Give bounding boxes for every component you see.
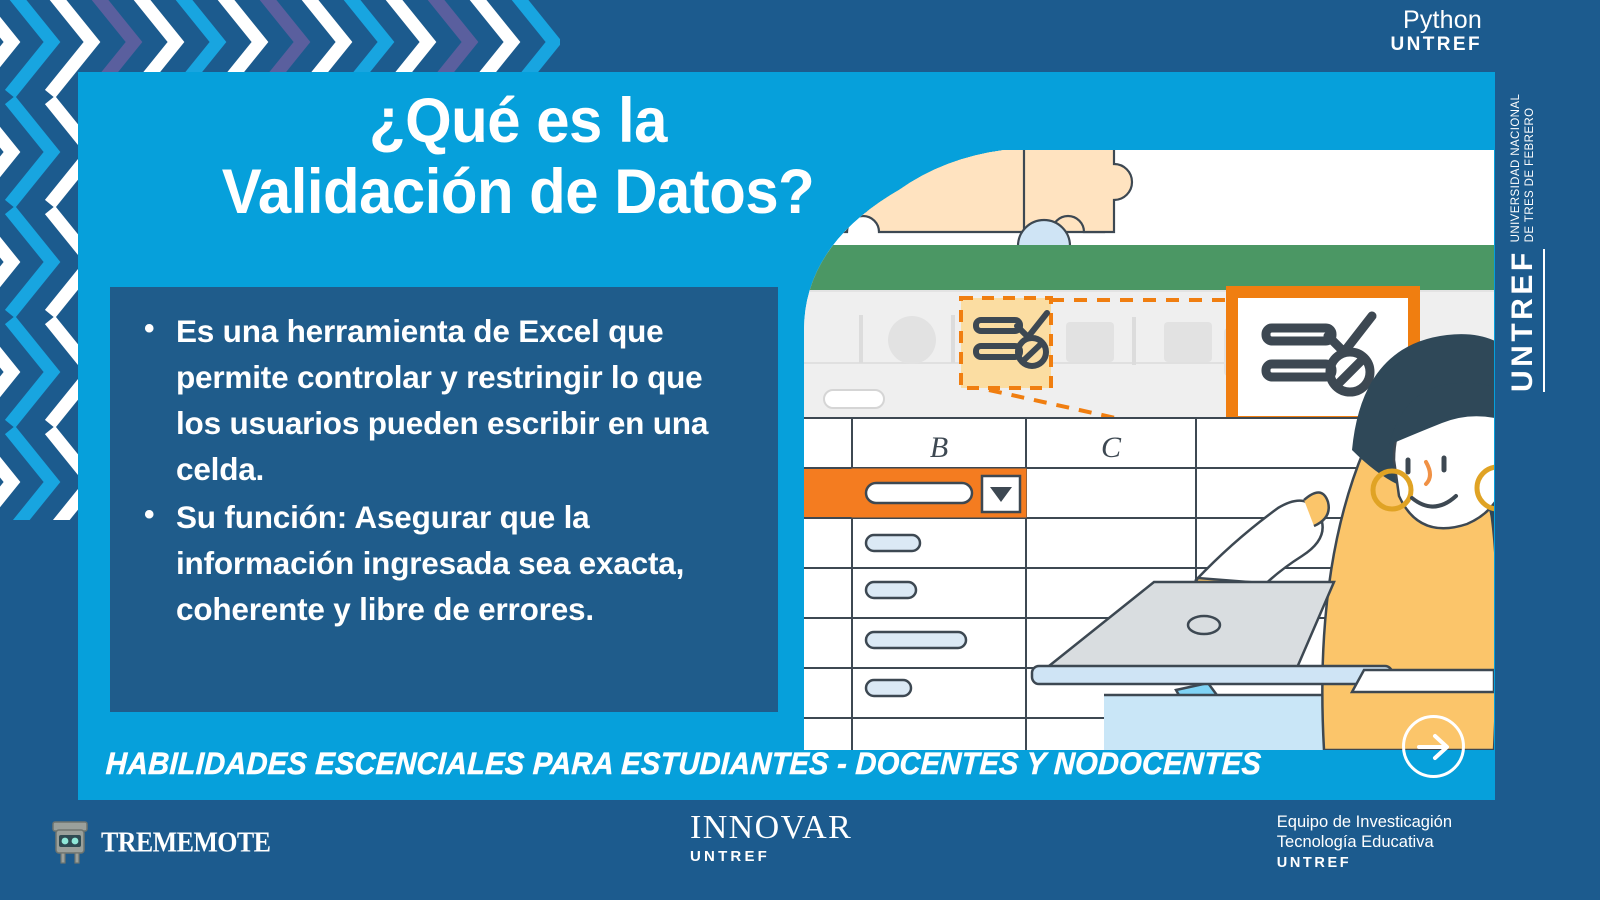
illus-green-band <box>804 245 1494 290</box>
innovar-logo: INNOVAR UNTREF <box>690 810 852 864</box>
toolbar-divider <box>1132 317 1136 365</box>
robot-icon <box>48 818 92 868</box>
toolbar-button <box>1066 322 1114 362</box>
illustration-spreadsheet-validation: B C <box>804 150 1494 750</box>
untref-fullname-line1: UNIVERSIDAD NACIONAL <box>1510 94 1522 243</box>
untref-vertical-logo: UNTREF UNIVERSIDAD NACIONAL DE TRES DE F… <box>1508 392 1594 722</box>
equipo-line2: Tecnología Educativa <box>1277 832 1452 852</box>
bullet-panel: Es una herramienta de Excel que permite … <box>110 287 778 712</box>
untref-fullname: UNIVERSIDAD NACIONAL DE TRES DE FEBRERO <box>1509 94 1545 243</box>
formula-bar <box>824 390 884 408</box>
untref-acronym: UNTREF <box>1508 249 1545 392</box>
list-item: Es una herramienta de Excel que permite … <box>130 309 752 493</box>
data-validation-icon-toolbar <box>961 298 1051 388</box>
toolbar-button <box>1164 322 1212 362</box>
innovar-untref-label: UNTREF <box>690 849 852 865</box>
toolbar-divider <box>859 315 863 363</box>
slide-card: ¿Qué es la Validación de Datos? Es una h… <box>78 72 1495 800</box>
toolbar-circle-button <box>888 316 936 364</box>
untref-fullname-line2: DE TRES DE FEBRERO <box>1524 108 1536 243</box>
next-arrow-button[interactable] <box>1402 715 1465 778</box>
brand-python-label: Python <box>1391 6 1482 34</box>
page-title-line1: ¿Qué es la <box>100 86 936 157</box>
toolbar-divider <box>951 315 955 363</box>
brand-untref-label: UNTREF <box>1391 34 1482 55</box>
trememote-logo: TREMEMOTE <box>48 818 270 868</box>
brand-python-untref: Python UNTREF <box>1391 6 1482 55</box>
footer-banner-text: HABILIDADES ESCENCIALES PARA ESTUDIANTES… <box>105 746 1372 782</box>
equipo-line1: Equipo de Investicagión <box>1277 812 1452 832</box>
bullet-list: Es una herramienta de Excel que permite … <box>130 309 752 633</box>
column-header-b: B <box>930 431 948 464</box>
innovar-wordmark: INNOVAR <box>690 810 852 846</box>
trememote-wordmark: TREMEMOTE <box>101 827 270 859</box>
footer-bar: TREMEMOTE INNOVAR UNTREF Equipo de Inves… <box>0 800 1600 900</box>
selected-cell <box>804 469 1026 517</box>
column-header-c: C <box>1101 431 1122 464</box>
arrow-right-icon <box>1417 732 1451 762</box>
list-item: Su función: Asegurar que la información … <box>130 495 752 633</box>
equipo-investigacion-credit: Equipo de Investicagión Tecnología Educa… <box>1277 812 1452 873</box>
equipo-line3: UNTREF <box>1277 855 1452 873</box>
